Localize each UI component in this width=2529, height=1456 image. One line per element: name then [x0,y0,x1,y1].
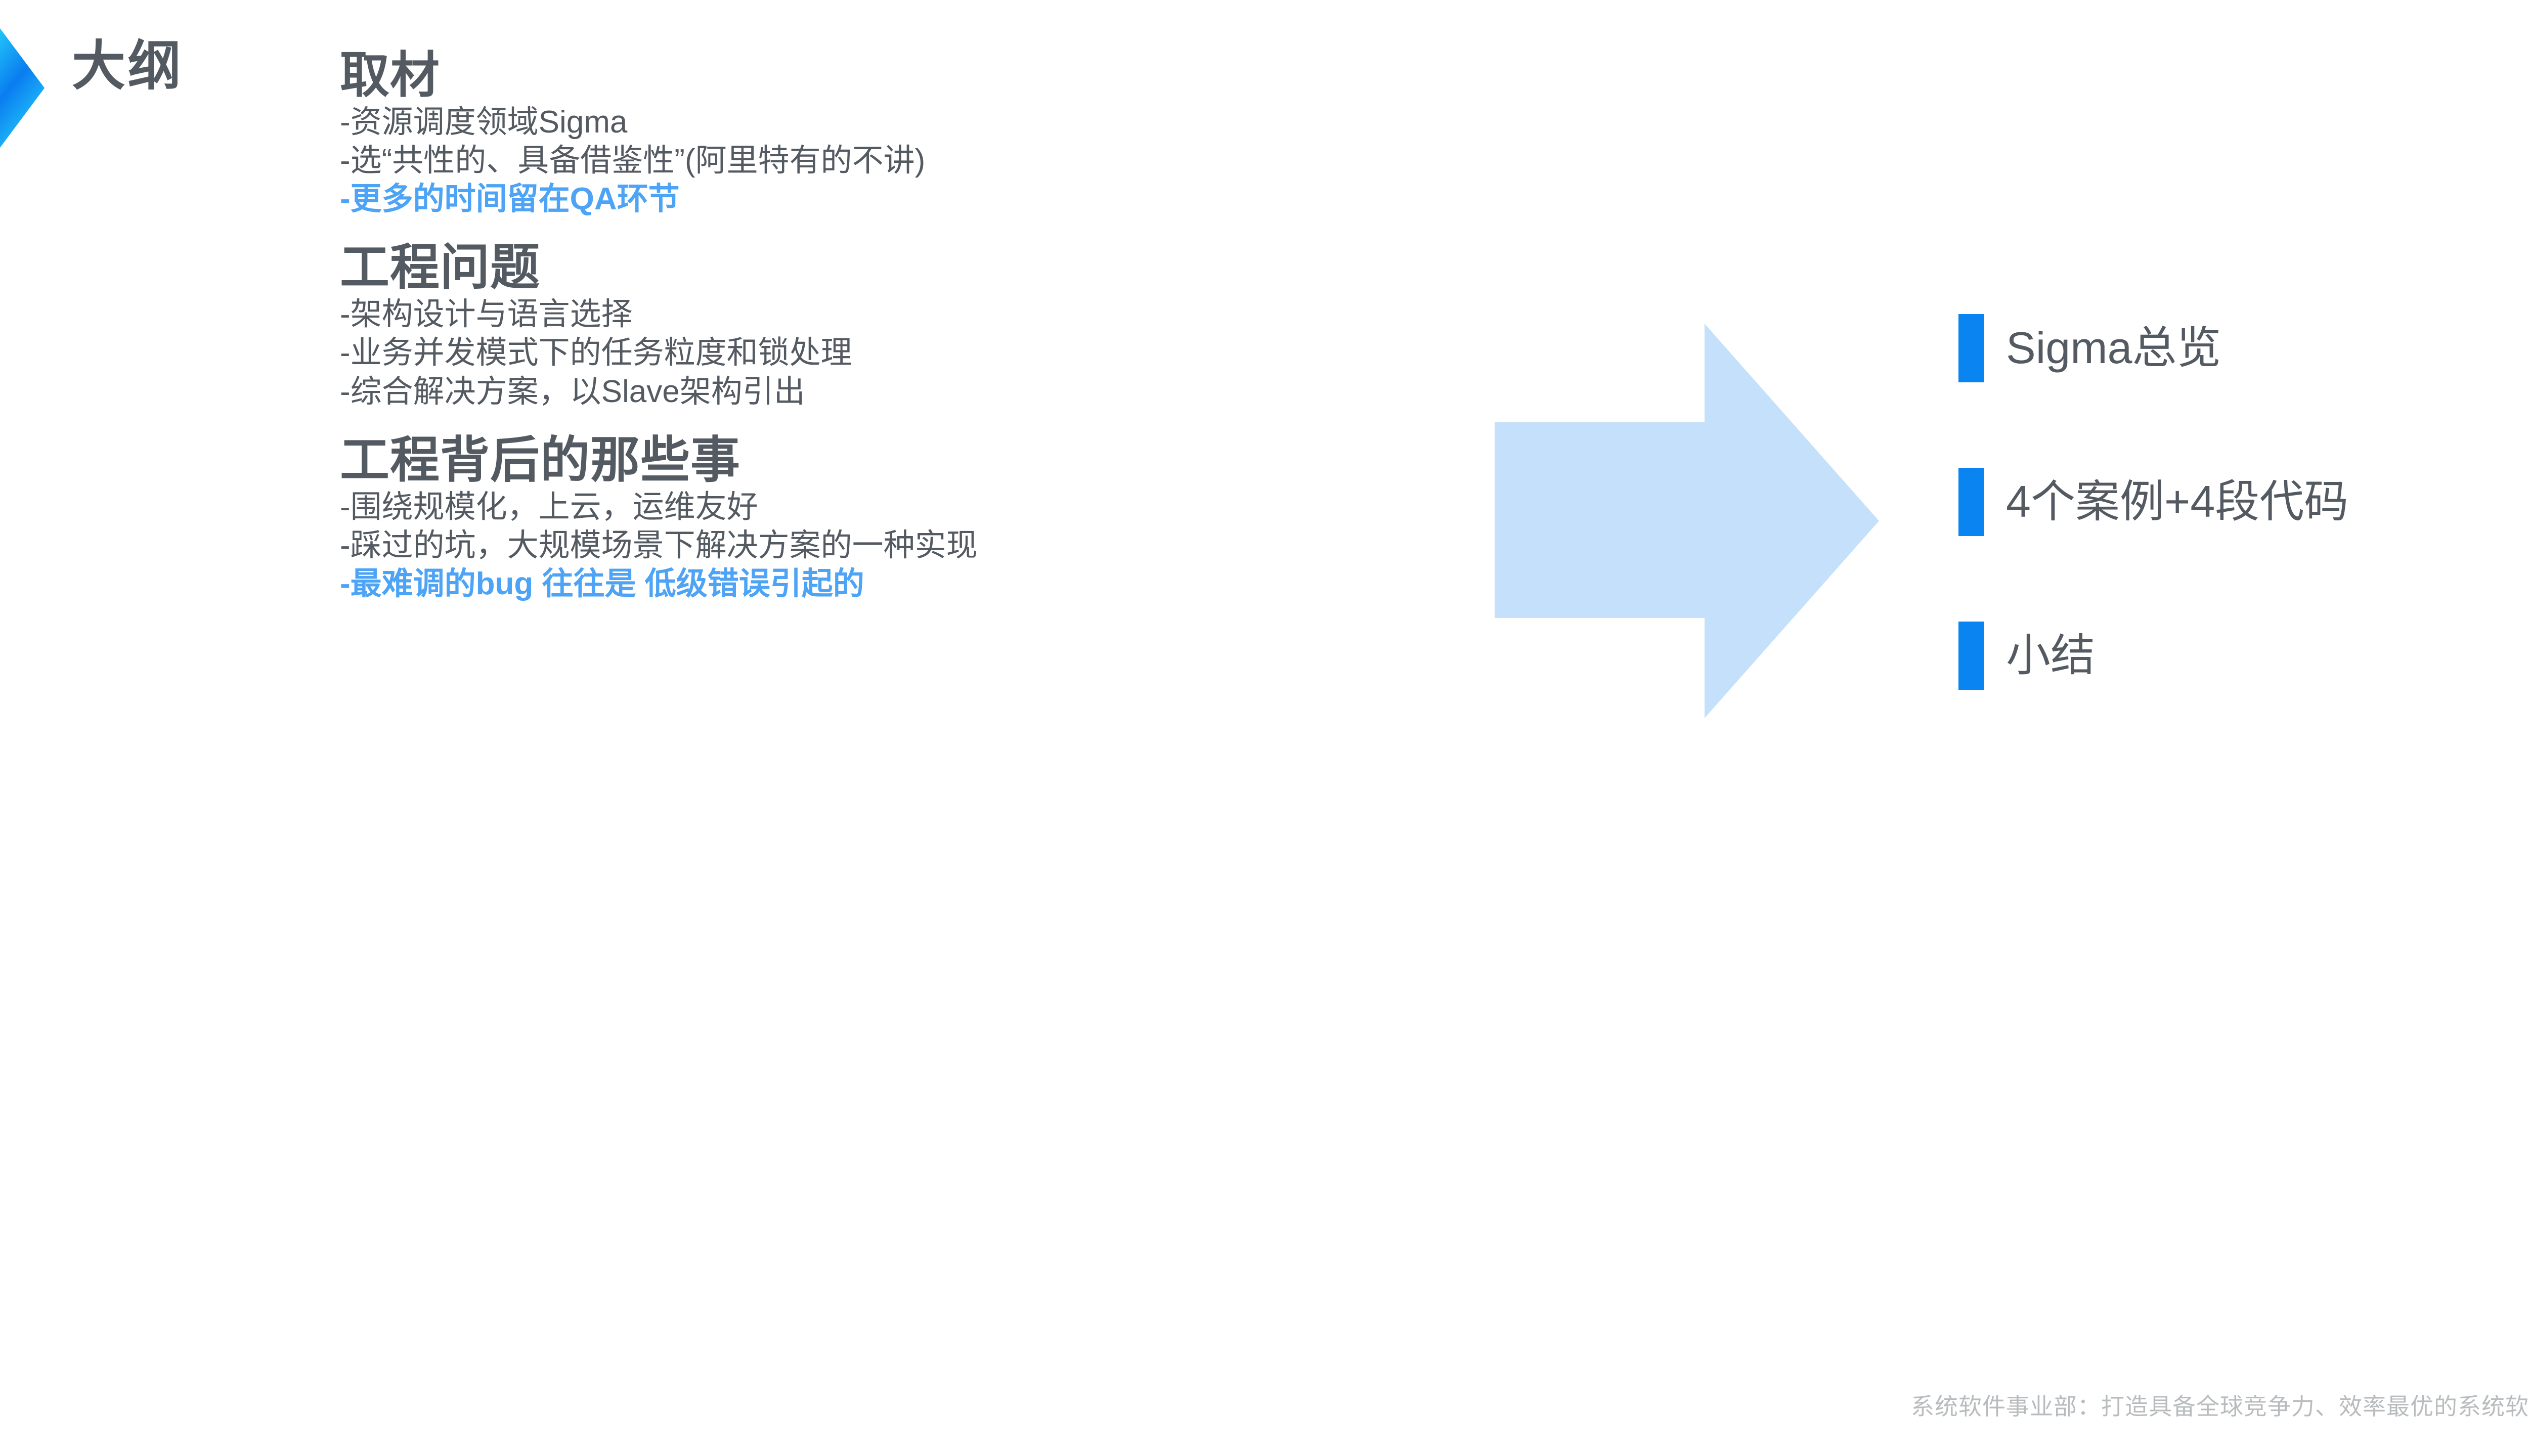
agenda-item[interactable]: 小结 [1958,621,2529,690]
bullet-dash: - [340,375,351,409]
bullet-text: 选“共性的、具备借鉴性”(阿里特有的不讲) [351,143,926,178]
bullet-text: 更多的时间留在QA环节 [351,182,680,216]
bullet-dash: - [340,297,351,332]
agenda-item-label: Sigma总览 [2006,326,2221,370]
outline-group-heading: 工程背后的那些事 [340,433,1443,487]
outline-bullet-accent: -最难调的bug 往往是 低级错误引起的 [340,565,1443,603]
outline-group-heading: 取材 [340,49,1443,102]
outline-bullet-accent: -更多的时间留在QA环节 [340,180,1443,218]
agenda-bullet-bar [1958,622,1984,690]
bullet-text: 架构设计与语言选择 [351,297,633,332]
bullet-text: 最难调的bug 往往是 低级错误引起的 [351,566,864,601]
bullet-text: 综合解决方案，以Slave架构引出 [351,374,805,409]
agenda-bullet-bar [1958,468,1984,536]
agenda-item[interactable]: 4个案例+4段代码 [1958,467,2529,536]
bullet-dash: - [340,105,351,140]
bullet-dash: - [340,528,351,563]
outline-group-heading: 工程问题 [340,241,1443,294]
bullet-dash: - [340,567,351,601]
outline-bullet: -踩过的坑，大规模场景下解决方案的一种实现 [340,526,1443,565]
agenda-item-label: 4个案例+4段代码 [2006,479,2348,524]
agenda-bullet-bar [1958,314,1984,382]
outline-group: 工程问题 -架构设计与语言选择 -业务并发模式下的任务粒度和锁处理 -综合解决方… [340,241,1443,411]
slide-canvas: 大纲 取材 -资源调度领域Sigma -选“共性的、具备借鉴性”(阿里特有的不讲… [0,0,2529,1456]
outline-column: 取材 -资源调度领域Sigma -选“共性的、具备借鉴性”(阿里特有的不讲) -… [340,49,1443,603]
footer-tagline: 系统软件事业部：打造具备全球竞争力、效率最优的系统软件 [1911,1388,2529,1422]
outline-bullet: -选“共性的、具备借鉴性”(阿里特有的不讲) [340,142,1443,180]
outline-bullet: -综合解决方案，以Slave架构引出 [340,373,1443,411]
bullet-dash: - [340,336,351,370]
bullet-dash: - [340,490,351,524]
bullet-dash: - [340,182,351,216]
agenda-item[interactable]: Sigma总览 [1958,314,2529,382]
bullet-text: 围绕规模化，上云，运维友好 [351,490,758,524]
outline-bullet: -围绕规模化，上云，运维友好 [340,488,1443,526]
page-title: 大纲 [72,39,183,93]
bullet-dash: - [340,144,351,178]
outline-bullet: -资源调度领域Sigma [340,103,1443,142]
agenda-item-label: 小结 [2006,633,2095,678]
outline-group: 取材 -资源调度领域Sigma -选“共性的、具备借鉴性”(阿里特有的不讲) -… [340,49,1443,218]
outline-group: 工程背后的那些事 -围绕规模化，上云，运维友好 -踩过的坑，大规模场景下解决方案… [340,433,1443,603]
chevron-right-icon [0,28,45,148]
arrow-right-icon [1487,314,1887,728]
bullet-text: 踩过的坑，大规模场景下解决方案的一种实现 [351,528,978,563]
bullet-text: 业务并发模式下的任务粒度和锁处理 [351,335,852,370]
outline-bullet: -架构设计与语言选择 [340,295,1443,334]
outline-bullet: -业务并发模式下的任务粒度和锁处理 [340,334,1443,372]
bullet-text: 资源调度领域Sigma [351,105,628,140]
agenda-list: Sigma总览 4个案例+4段代码 小结 [1958,314,2529,690]
